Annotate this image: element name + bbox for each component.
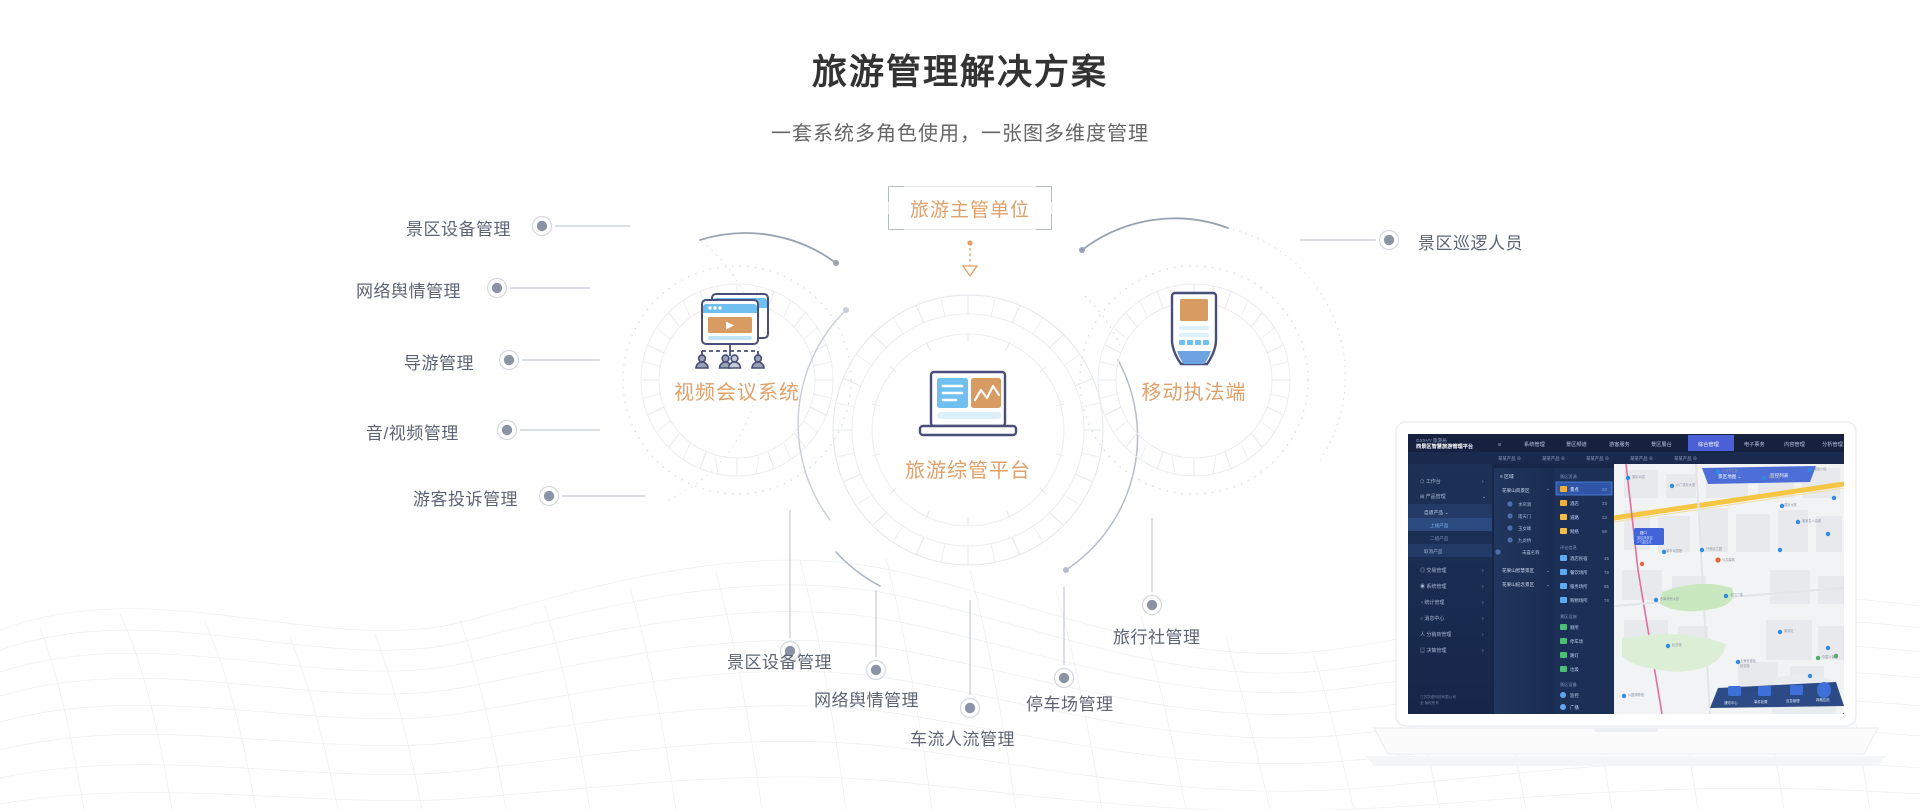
svg-text:45: 45 [1604,556,1609,561]
bottom-label-0[interactable]: 景区设备管理 [727,648,832,673]
svg-text:酒店: 酒店 [1570,500,1579,507]
svg-text:中国人保险: 中国人保险 [1822,654,1839,659]
svg-text:事件处置: 事件处置 [1754,699,1768,704]
svg-text:分析管理: 分析管理 [1822,440,1844,448]
node-dot [1143,596,1162,615]
svg-text:76: 76 [1604,598,1609,603]
svg-text:内容管理: 内容管理 [1784,440,1806,448]
svg-text:⌄: ⌄ [1546,582,1550,587]
svg-text:景区设备: 景区设备 [1560,681,1578,688]
svg-text:二级产品: 二级产品 [1430,535,1449,542]
svg-text:公园博物馆: 公园博物馆 [1628,692,1644,697]
bottom-connectors [790,510,1152,695]
page-title: 旅游管理解决方案 [0,44,1920,95]
corner-bottom-right [1036,214,1052,230]
svg-text:全 版权所有: 全 版权所有 [1420,700,1439,705]
svg-text:酒店民宿: 酒店民宿 [1570,555,1588,562]
svg-text:某某产品 ⊗: 某某产品 ⊗ [1586,455,1609,462]
bottom-label-4[interactable]: 旅行社管理 [1113,623,1201,648]
node-dot [488,279,507,298]
svg-text:江苏凯盛网络有限公司: 江苏凯盛网络有限公司 [1420,694,1456,699]
svg-text:西景区智慧旅游管理平台: 西景区智慧旅游管理平台 [1416,442,1473,450]
svg-text:监控: 监控 [1570,692,1579,699]
node-video-conference[interactable]: 视频会议系统 [627,288,847,405]
node-dot [500,351,519,370]
svg-text:▤ 决策管理: ▤ 决策管理 [1420,647,1446,654]
edge-left [888,202,889,214]
svg-text:某某产品 ⊗: 某某产品 ⊗ [1542,455,1565,462]
svg-text:评论信息: 评论信息 [1560,544,1577,551]
svg-text:2个监控点: 2个监控点 [1637,539,1652,544]
svg-text:景区地图 ⌄: 景区地图 ⌄ [1718,473,1742,480]
svg-text:56: 56 [1602,529,1607,534]
svg-text:景区频道: 景区频道 [1566,440,1587,448]
svg-text:某某产品 ⊗: 某某产品 ⊗ [1674,455,1697,462]
node-platform[interactable]: 旅游综管平台 [858,368,1078,483]
svg-text:纪念馆: 纪念馆 [1740,663,1750,668]
node-dot [1055,669,1074,688]
svg-text:公共建筑: 公共建筑 [1722,557,1736,562]
svg-text:⌄: ⌄ [1482,494,1486,500]
svg-text:上线产品: 上线产品 [1430,522,1449,529]
svg-text:某区公园: 某区公园 [1632,474,1645,479]
svg-text:水帘洞: 水帘洞 [1518,501,1532,508]
left-node-dots [488,217,559,506]
node-mobile-terminal[interactable]: 移动执法端 [1084,288,1304,405]
svg-text:⊞ 产品管理: ⊞ 产品管理 [1420,493,1446,500]
left-connectors [510,226,645,496]
svg-text:某景区: 某景区 [1784,628,1794,633]
bottom-label-2[interactable]: 车流人流管理 [910,725,1015,750]
svg-text:服务场所: 服务场所 [1570,583,1588,590]
svg-text:某市公园馆: 某市公园馆 [1666,548,1682,553]
gov-unit-label: 旅游主管单位 [910,195,1030,222]
svg-text:纪念馆: 纪念馆 [1672,642,1682,647]
node-dot [1380,231,1399,250]
svg-text:游客服务: 游客服务 [1609,440,1630,448]
gov-box-arrow [963,240,977,276]
laptop-dashboard-icon [909,368,1027,448]
node-mobile-caption: 移动执法端 [1084,376,1304,405]
svg-text:≡ 区域: ≡ 区域 [1500,473,1514,480]
svg-text:○ 消息中心: ○ 消息中心 [1420,615,1444,622]
svg-text:厕所: 厕所 [1570,624,1579,631]
svg-text:餐饮场所: 餐饮场所 [1570,569,1588,576]
svg-text:系统管理: 系统管理 [1524,440,1546,448]
corner-bottom-left [888,214,904,230]
corner-top-left [888,186,904,202]
svg-text:电子票务: 电子票务 [1744,440,1765,448]
video-conference-icon [682,288,792,370]
laptop-mockup[interactable]: GXXVY 旅游局 西景区智慧旅游管理平台 ≡ 系统管理 景区频道 游客服务 景… [1366,410,1886,780]
svg-text:网络: 网络 [1570,528,1579,535]
svg-text:垃圾: 垃圾 [1570,666,1579,673]
svg-text:某某产品 ⊗: 某某产品 ⊗ [1630,455,1653,462]
svg-text:综合管理: 综合管理 [1698,440,1720,448]
svg-text:23: 23 [1602,515,1607,520]
svg-text:南天门: 南天门 [1518,513,1531,520]
svg-text:小西弯名苑: 小西弯名苑 [1722,468,1739,473]
svg-text:网格应用: 网格应用 [1816,697,1830,702]
svg-text:广播: 广播 [1570,704,1579,711]
svg-text:⬡ 工作台: ⬡ 工作台 [1420,478,1441,485]
svg-text:路灯: 路灯 [1570,652,1579,659]
svg-text:23: 23 [1602,501,1607,506]
left-label-3[interactable]: 音/视频管理 [366,419,459,444]
node-dot [961,699,980,718]
left-label-4[interactable]: 游客投诉管理 [413,485,518,510]
svg-text:小广场东大道: 小广场东大道 [1676,482,1696,487]
solution-diagram-page: 旅游管理解决方案 一套系统多角色使用，一张图多维度管理 旅游主管单位 [0,0,1920,810]
bottom-label-3[interactable]: 停车场管理 [1026,690,1114,715]
svg-text:花果山纪念景区: 花果山纪念景区 [1502,581,1535,588]
svg-text:某某产品 ⊗: 某某产品 ⊗ [1498,455,1521,462]
left-label-0[interactable]: 景区设备管理 [406,215,511,240]
svg-text:≡: ≡ [1498,442,1501,448]
svg-text:⌃: ⌃ [1546,488,1550,493]
svg-text:道路: 道路 [1570,514,1579,521]
bottom-label-1[interactable]: 网络舆情管理 [814,686,919,711]
svg-text:景区资源: 景区资源 [1560,473,1578,480]
svg-text:某家名人会馆: 某家名人会馆 [1802,518,1821,523]
svg-text:⌄: ⌄ [1546,568,1550,573]
node-dot [540,487,559,506]
svg-text:停车场: 停车场 [1570,638,1584,645]
svg-text:◔ 统计管理: ◔ 统计管理 [1420,599,1444,606]
left-label-2[interactable]: 导游管理 [404,349,474,374]
svg-text:商圈人里: 商圈人里 [1768,474,1782,479]
svg-text:通知中心: 通知中心 [1724,700,1738,705]
svg-text:北门广场: 北门广场 [1730,592,1743,597]
svg-text:95: 95 [1604,584,1609,589]
node-platform-caption: 旅游综管平台 [858,454,1078,483]
svg-text:上海世博会: 上海世博会 [1740,658,1757,663]
edge-bottom [904,229,1036,230]
edge-right [1051,202,1052,214]
svg-text:◎ 交易管理: ◎ 交易管理 [1420,567,1446,574]
left-label-1[interactable]: 网络舆情管理 [356,277,461,302]
svg-text:九龙桥: 九龙桥 [1518,537,1532,544]
node-dot [498,421,517,440]
svg-text:自适产品 ⌄: 自适产品 ⌄ [1424,509,1449,516]
node-dot [533,217,552,236]
svg-text:景区展台: 景区展台 [1651,440,1672,448]
svg-text:路口: 路口 [1640,530,1647,535]
corner-top-right [1036,186,1052,202]
svg-text:东南商贸大厦: 东南商贸大厦 [1660,596,1680,601]
svg-text:78: 78 [1604,570,1609,575]
svg-text:取消产品: 取消产品 [1424,548,1443,555]
handheld-terminal-icon [1163,288,1225,370]
node-dot [867,661,886,680]
svg-text:花果山风景区: 花果山风景区 [1502,487,1530,494]
svg-text:23: 23 [1602,487,1607,492]
svg-text:行政区之园: 行政区之园 [1706,546,1722,551]
svg-text:观景大厦: 观景大厦 [1784,502,1798,507]
svg-text:某区小区: 某区小区 [1814,466,1828,471]
svg-text:购物场所: 购物场所 [1570,597,1588,604]
svg-text:人 分销商管理: 人 分销商管理 [1420,631,1451,638]
svg-text:花果山智慧景区: 花果山智慧景区 [1502,567,1535,574]
node-video-caption: 视频会议系统 [627,376,847,405]
edge-top [904,186,1036,187]
svg-text:应急管理: 应急管理 [1786,698,1800,703]
svg-text:景区设施: 景区设施 [1560,613,1578,620]
page-header: 旅游管理解决方案 一套系统多角色使用，一张图多维度管理 [0,0,1920,146]
svg-text:未露名称: 未露名称 [1522,549,1540,556]
svg-text:玉女峰: 玉女峰 [1518,525,1532,532]
svg-text:GXXVY 旅游局: GXXVY 旅游局 [1416,437,1447,444]
svg-text:◉ 系统管理: ◉ 系统管理 [1420,583,1446,590]
right-label-0[interactable]: 景区巡逻人员 [1418,229,1523,254]
gov-unit-box[interactable]: 旅游主管单位 [888,186,1052,230]
page-subtitle: 一套系统多角色使用，一张图多维度管理 [0,117,1920,146]
